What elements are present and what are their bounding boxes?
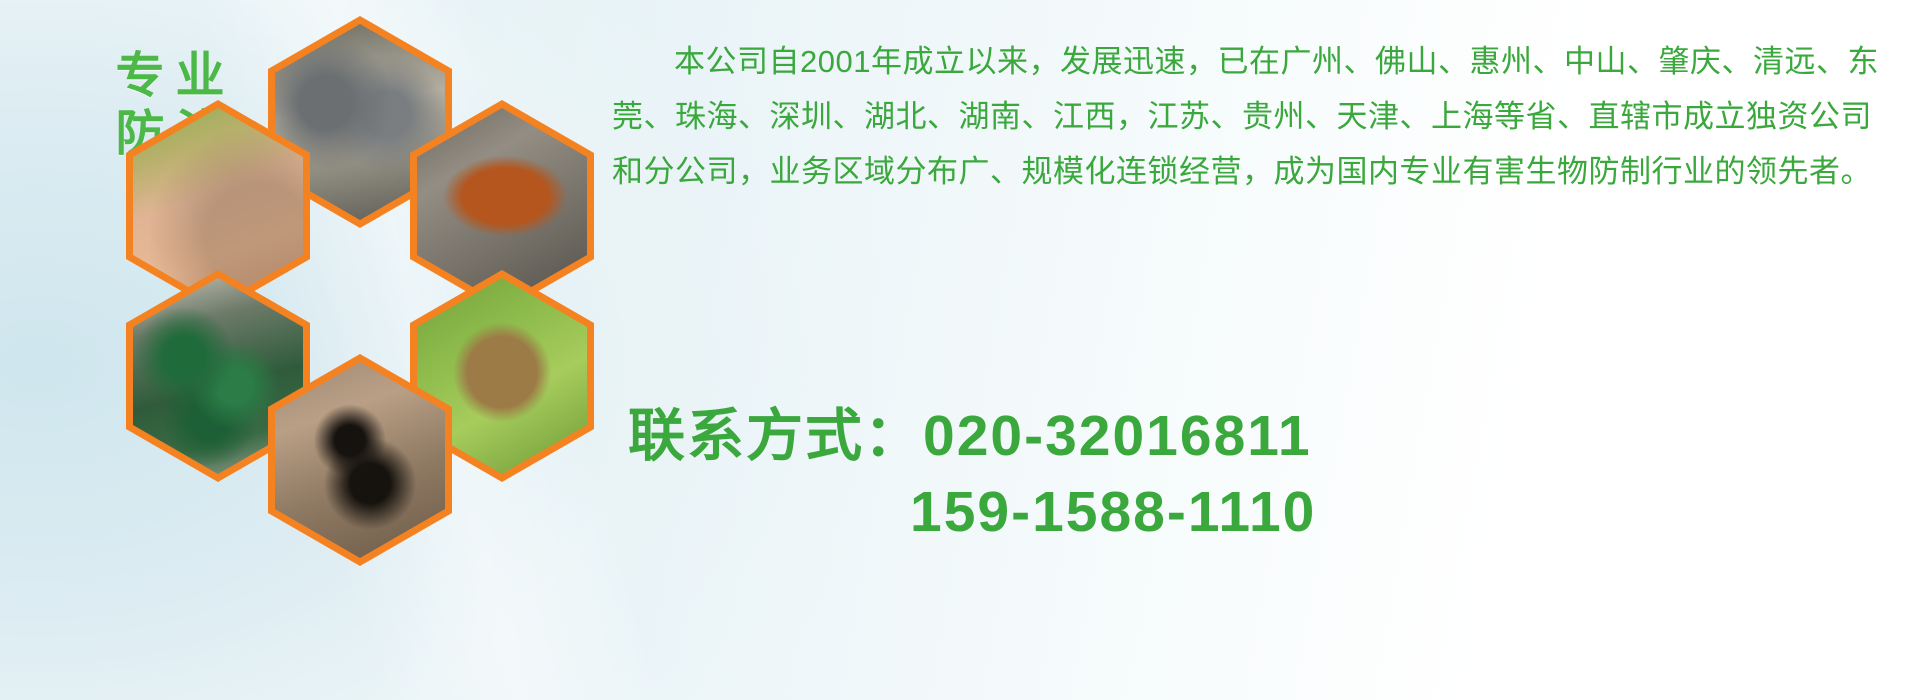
contact-phone-primary[interactable]: 020-32016811: [923, 404, 1312, 468]
hex-photo-ant-clip: [275, 362, 445, 558]
contact-phone-secondary[interactable]: 159-1588-1110: [628, 474, 1908, 550]
slogan-line-1: 专业: [104, 48, 235, 106]
honeycomb-image-cluster: 专业 防治: [78, 0, 598, 700]
company-intro-paragraph: 本公司自2001年成立以来，发展迅速，已在广州、佛山、惠州、中山、肇庆、清远、东…: [612, 34, 1892, 199]
ant-photo: [275, 362, 445, 558]
contact-label: 联系方式：: [628, 404, 923, 468]
promo-banner: 专业 防治 本公司自2001年成立以来，发展迅速，已在广州、佛山、惠州、中山、肇…: [0, 0, 1920, 700]
company-copy-block: 本公司自2001年成立以来，发展迅速，已在广州、佛山、惠州、中山、肇庆、清远、东…: [612, 34, 1892, 199]
contact-block: 联系方式：020-32016811 159-1588-1110: [628, 398, 1908, 550]
